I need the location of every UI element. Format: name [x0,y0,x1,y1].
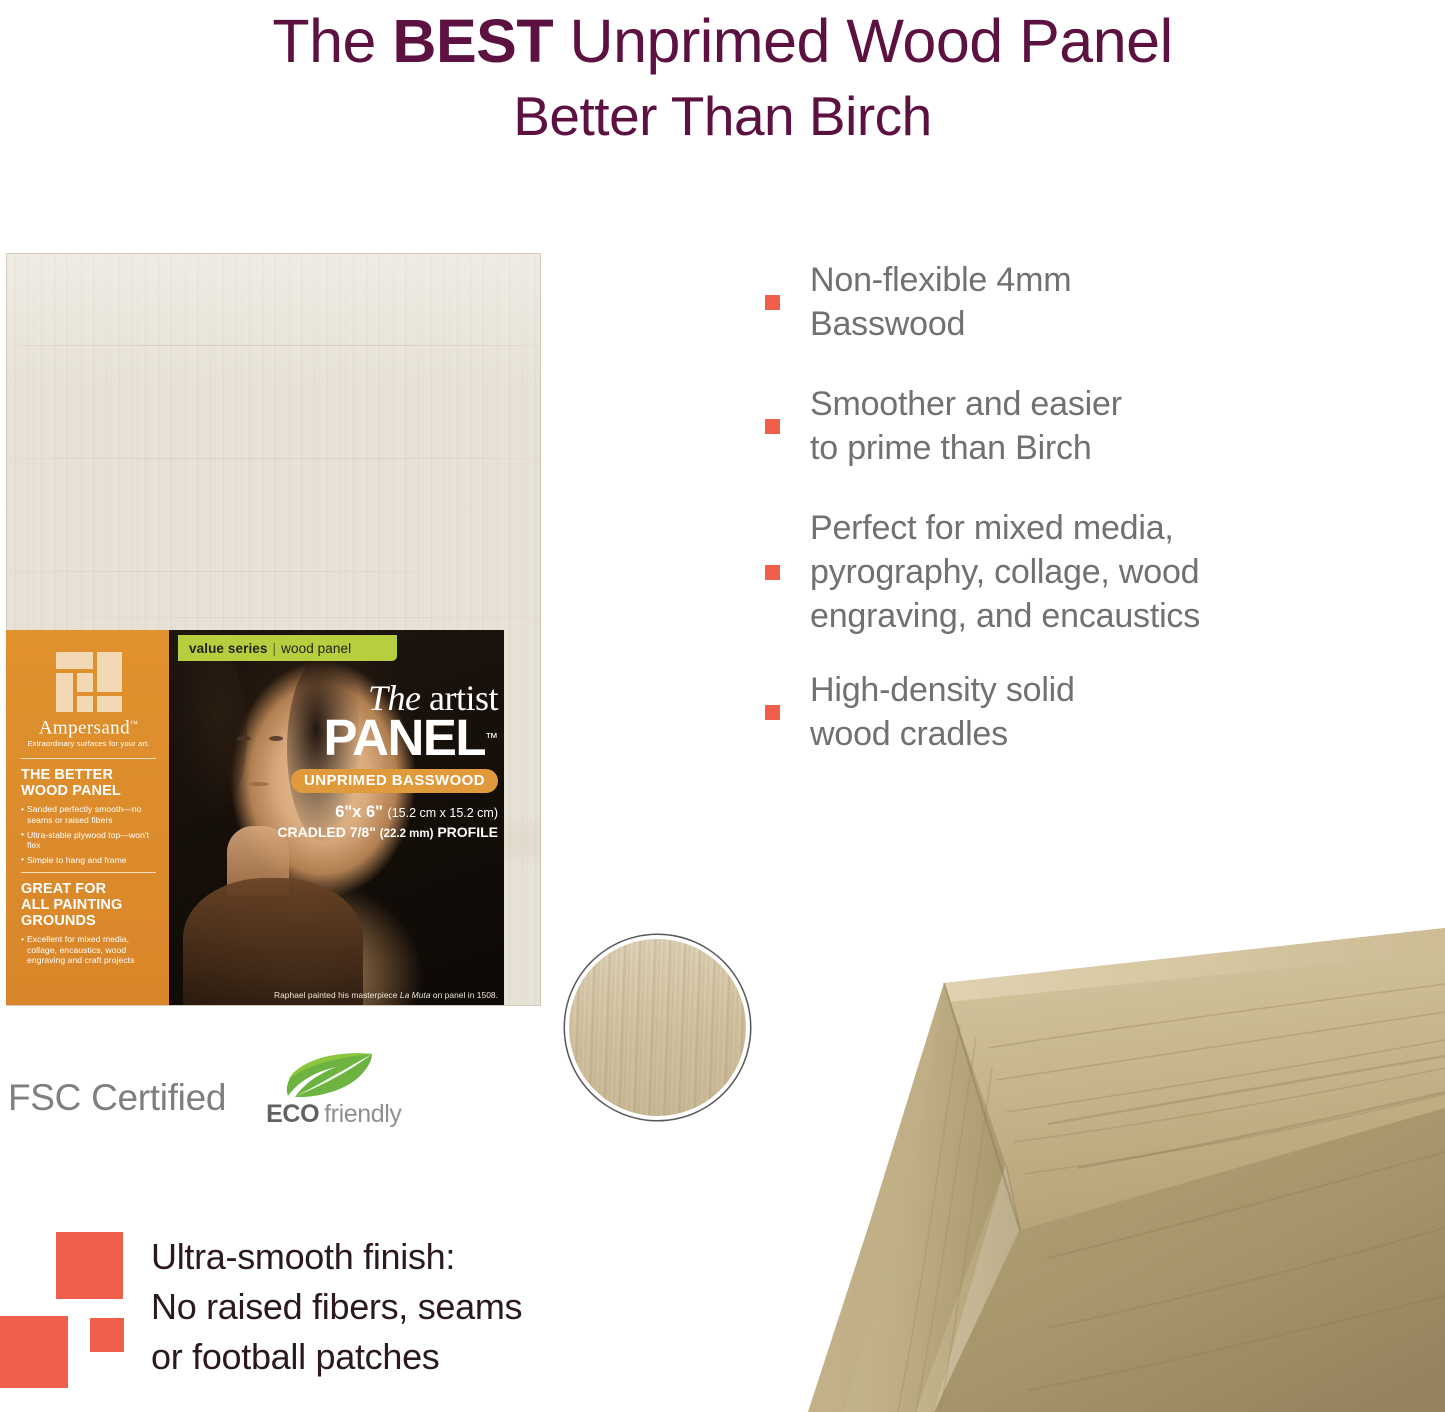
square-large-bottom [0,1316,68,1388]
label-list-item: Simple to hang and frame [21,855,156,866]
label-section1-heading: THE BETTERWOOD PANEL [21,767,156,799]
ultra-smooth-callout: Ultra-smooth finish: No raised fibers, s… [38,1232,522,1382]
label-artwork-column: value series | wood panel The artist PAN… [169,630,504,1005]
title-prefix: The [272,7,392,75]
label-list-item: Excellent for mixed media, collage, enca… [21,934,156,966]
wood-panel-label: wood panel [281,641,351,656]
brand-name: Ampersand™ [21,714,156,738]
brand-tagline: Extraordinary surfaces for your art. [21,739,156,749]
bullet-marker-icon [765,705,780,720]
bullet-marker-icon [765,295,780,310]
cradled-panel-corner-photo [748,928,1445,1412]
callout-text: Ultra-smooth finish: No raised fibers, s… [151,1232,522,1382]
callout-line-1: Ultra-smooth finish: [151,1232,522,1282]
label-list-item: Sanded perfectly smooth—no seams or rais… [21,804,156,825]
label-list-item: Ultra-stable plywood top—won't flex [21,830,156,851]
value-series-badge: value series | wood panel [178,635,397,661]
product-size: 6"x 6" (15.2 cm x 15.2 cm) [263,803,498,822]
product-profile: CRADLED 7/8" (22.2 mm) PROFILE [263,824,498,840]
leaf-icon [284,1052,374,1098]
feature-bullet-text: Perfect for mixed media,pyrography, coll… [810,506,1200,638]
feature-bullet-text: High-density solidwood cradles [810,668,1075,756]
feature-bullet: Perfect for mixed media,pyrography, coll… [765,506,1425,638]
red-squares-motif [38,1232,124,1382]
label-section2-heading: GREAT FORALL PAINTINGGROUNDS [21,881,156,929]
feature-bullet: Non-flexible 4mmBasswood [765,258,1425,346]
bullet-marker-icon [765,565,780,580]
label-divider-1 [21,758,156,759]
panel-trademark: ™ [485,730,498,745]
eco-friendly-badge: ECOfriendly [262,1052,382,1144]
cradled-panel-illustration [748,928,1445,1412]
eco-label-light: friendly [324,1100,401,1128]
feature-list: Non-flexible 4mmBasswoodSmoother and eas… [765,258,1425,792]
header: The BEST Unprimed Wood Panel Better Than… [0,0,1445,185]
label-divider-2 [21,872,156,873]
product-name-line2: PANEL™ [263,714,498,762]
product-panel-face: Ampersand™ Extraordinary surfaces for yo… [6,253,541,1006]
brand-trademark: ™ [130,719,138,728]
value-series-label: value series [189,641,268,656]
product-name-block: The artist PANEL™ UNPRIMED BASSWOOD 6"x … [263,680,498,840]
feature-bullet-text: Non-flexible 4mmBasswood [810,258,1071,346]
page-title: The BEST Unprimed Wood Panel [0,0,1445,76]
label-brand-column: Ampersand™ Extraordinary surfaces for yo… [6,630,169,1005]
badge-separator: | [273,641,277,656]
feature-bullet-text: Smoother and easierto prime than Birch [810,382,1122,470]
feature-bullet: High-density solidwood cradles [765,668,1425,756]
bullet-marker-icon [765,419,780,434]
product-label: Ampersand™ Extraordinary surfaces for yo… [6,630,504,1005]
callout-line-3: or football patches [151,1332,522,1382]
square-large-top [56,1232,123,1299]
callout-line-2: No raised fibers, seams [151,1282,522,1332]
square-small [90,1318,124,1352]
fsc-certified-label: FSC Certified [8,1078,226,1118]
page-subtitle: Better Than Birch [0,76,1445,148]
label-section1-list: Sanded perfectly smooth—no seams or rais… [21,804,156,865]
title-emphasis: BEST [392,7,553,75]
certifications-row: FSC Certified ECOfriendly [8,1052,382,1144]
label-section2-list: Excellent for mixed media, collage, enca… [21,934,156,966]
artwork-title: La Muta [400,990,431,1000]
wood-grain-detail-circle [565,935,750,1120]
variant-badge: UNPRIMED BASSWOOD [291,769,498,793]
feature-bullet: Smoother and easierto prime than Birch [765,382,1425,470]
eco-label-bold: ECO [266,1100,319,1128]
label-fineprint: Raphael painted his masterpiece La Muta … [226,990,498,1000]
title-suffix: Unprimed Wood Panel [553,7,1173,75]
ampersand-logo-icon [56,652,122,712]
